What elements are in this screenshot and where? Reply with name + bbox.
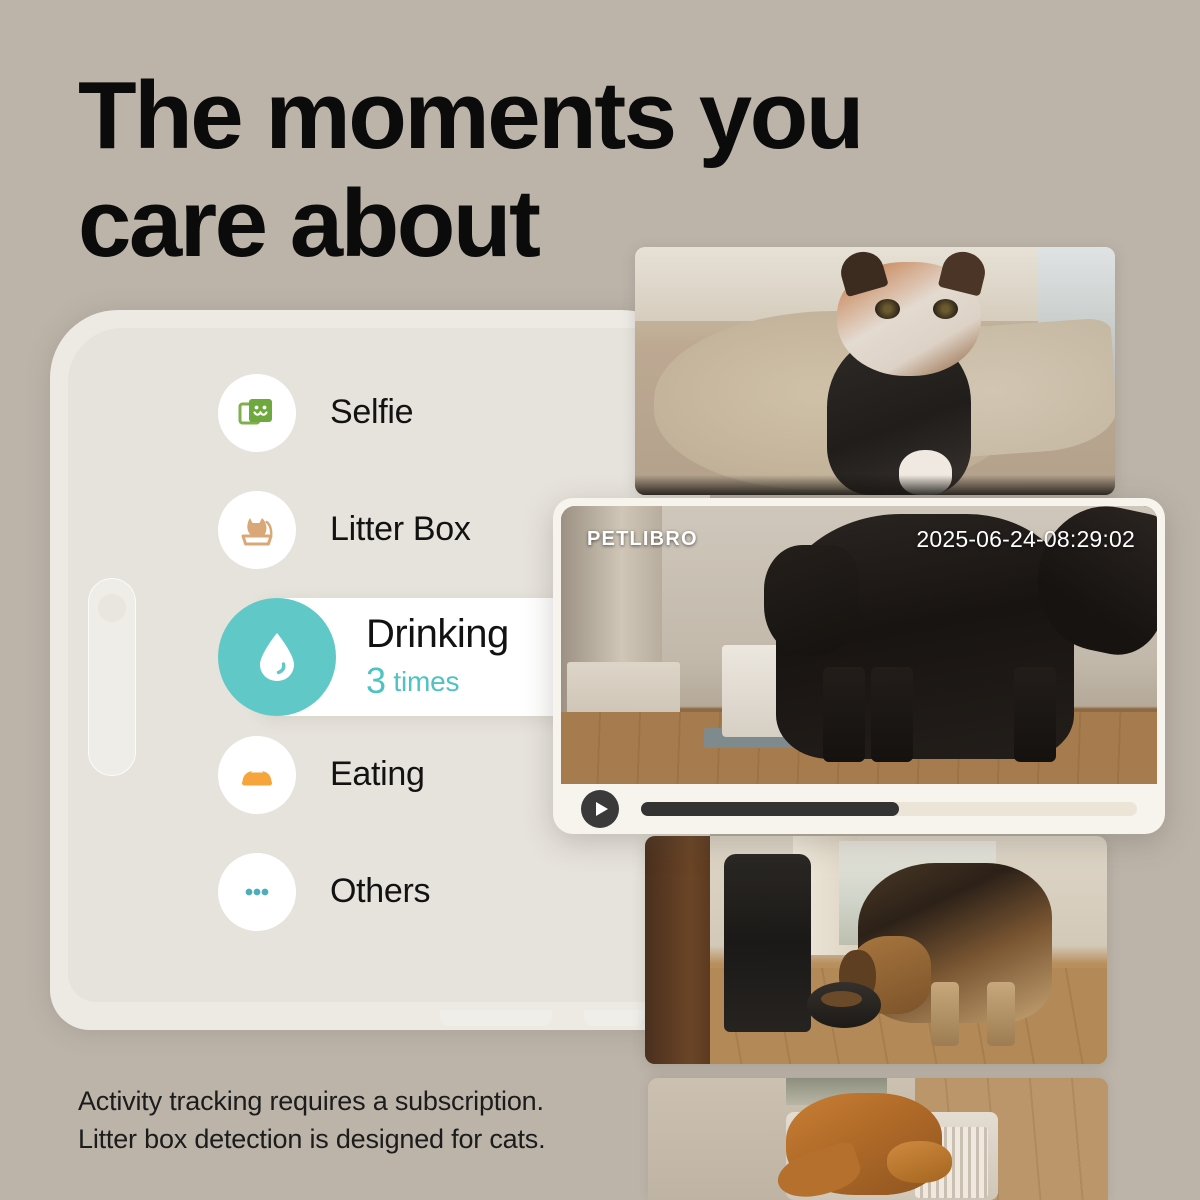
phone-side-button[interactable] [88, 578, 136, 776]
litter-box-cat-icon [236, 509, 278, 551]
activity-text-selfie: Selfie [330, 394, 413, 431]
page-title-line-2: care about [78, 170, 958, 278]
photo-cat-selfie[interactable] [635, 247, 1115, 495]
disclaimer-line-1: Activity tracking requires a subscriptio… [78, 1082, 545, 1120]
photo-dog-eating-scene [645, 836, 1107, 1064]
activity-text-litter-box: Litter Box [330, 511, 471, 548]
activity-label: Selfie [330, 394, 413, 431]
video-timestamp: 2025-06-24-08:29:02 [916, 526, 1135, 553]
photo-cat-litter-box[interactable] [648, 1078, 1108, 1200]
petlibro-watermark: PETLIBRO [587, 528, 698, 551]
selfie-icon-badge [218, 374, 296, 452]
eating-icon-badge [218, 736, 296, 814]
video-viewport[interactable]: PETLIBRO 2025-06-24-08:29:02 [561, 506, 1157, 784]
disclaimer-caption: Activity tracking requires a subscriptio… [78, 1082, 545, 1159]
disclaimer-line-2: Litter box detection is designed for cat… [78, 1120, 545, 1158]
activity-label: Others [330, 873, 430, 910]
activity-label: Litter Box [330, 511, 471, 548]
activity-count-number: 3 [366, 660, 386, 701]
video-player-card[interactable]: PETLIBRO 2025-06-24-08:29:02 [553, 498, 1165, 834]
activity-count-unit: times [393, 666, 459, 697]
activity-item-selfie[interactable]: Selfie [218, 372, 638, 454]
activity-label: Eating [330, 756, 425, 793]
video-controls-bar [561, 784, 1157, 834]
food-bowl-icon [237, 755, 277, 795]
play-icon [596, 802, 608, 816]
activity-text-drinking: Drinking 3 times [366, 612, 509, 702]
others-icon-badge [218, 853, 296, 931]
phone-bottom-edge-left [440, 1010, 552, 1026]
selfie-photos-icon [237, 393, 277, 433]
photo-cat-litter-box-scene [648, 1078, 1108, 1200]
activity-text-eating: Eating [330, 756, 425, 793]
video-progress-scrubber[interactable] [641, 802, 1137, 816]
activity-text-others: Others [330, 873, 430, 910]
drinking-icon-badge [218, 598, 336, 716]
phone-bottom-edge-right [584, 1010, 644, 1026]
litter-box-icon-badge [218, 491, 296, 569]
play-button[interactable] [581, 790, 619, 828]
video-progress-fill [641, 802, 899, 816]
water-drop-icon [246, 626, 308, 688]
ellipsis-dots-icon [237, 872, 277, 912]
photo-dog-eating[interactable] [645, 836, 1107, 1064]
page-title-line-1: The moments you [78, 62, 958, 170]
activity-label: Drinking [366, 612, 509, 656]
activity-count: 3 times [366, 660, 509, 702]
page-title: The moments you care about [78, 62, 958, 277]
activity-item-others[interactable]: Others [218, 851, 638, 933]
photo-cat-selfie-scene [635, 247, 1115, 495]
